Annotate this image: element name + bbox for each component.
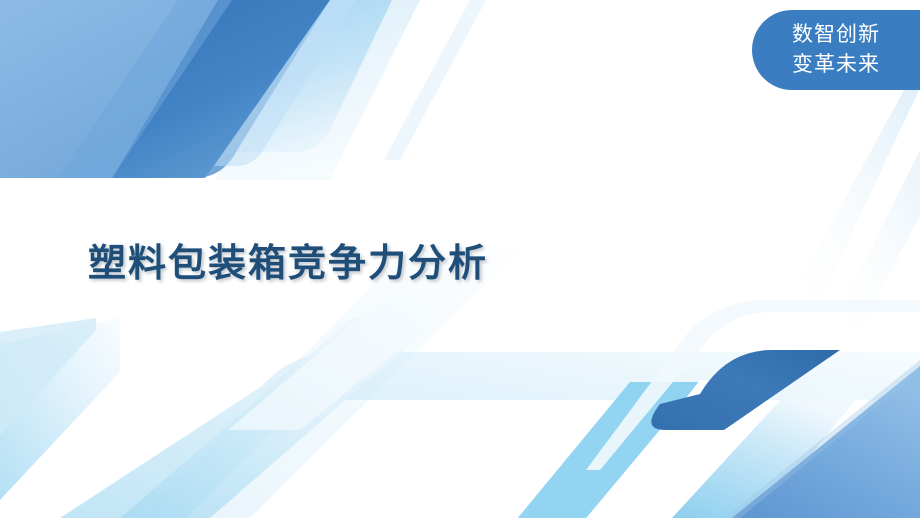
badge-line-2: 变革未来 [792, 50, 880, 80]
top-pale-band [196, 0, 392, 152]
badge-line-1: 数智创新 [792, 20, 880, 50]
bottom-white-gap [560, 380, 742, 518]
top-base-shape [0, 0, 330, 178]
bottom-light-sweep [60, 352, 920, 518]
deep-blue-band [651, 350, 840, 430]
top-faint-band [215, 0, 420, 180]
title-slide: 数智创新 变革未来 塑料包装箱竞争力分析 [0, 0, 920, 518]
bottom-left-band-2 [0, 318, 96, 436]
corner-triangle-edge [724, 360, 920, 518]
badge-slogan: 数智创新 变革未来 [752, 10, 920, 90]
top-right-wisp-2 [830, 150, 920, 330]
corner-triangle [732, 366, 920, 518]
top-right-wisp-3 [384, 0, 486, 160]
corner-light-triangle [672, 394, 860, 518]
page-title: 塑料包装箱竞争力分析 [88, 232, 488, 287]
bottom-faint-band [140, 250, 520, 518]
top-dark-band [112, 0, 330, 178]
deep-band-highlight [586, 300, 920, 470]
bottom-cyan-accent [488, 382, 700, 518]
top-right-wisp-1 [790, 88, 920, 300]
bottom-mid-band [120, 318, 440, 518]
bottom-left-band-1 [0, 318, 120, 500]
top-sliver-band [214, 0, 356, 166]
top-mid-band [58, 0, 232, 178]
